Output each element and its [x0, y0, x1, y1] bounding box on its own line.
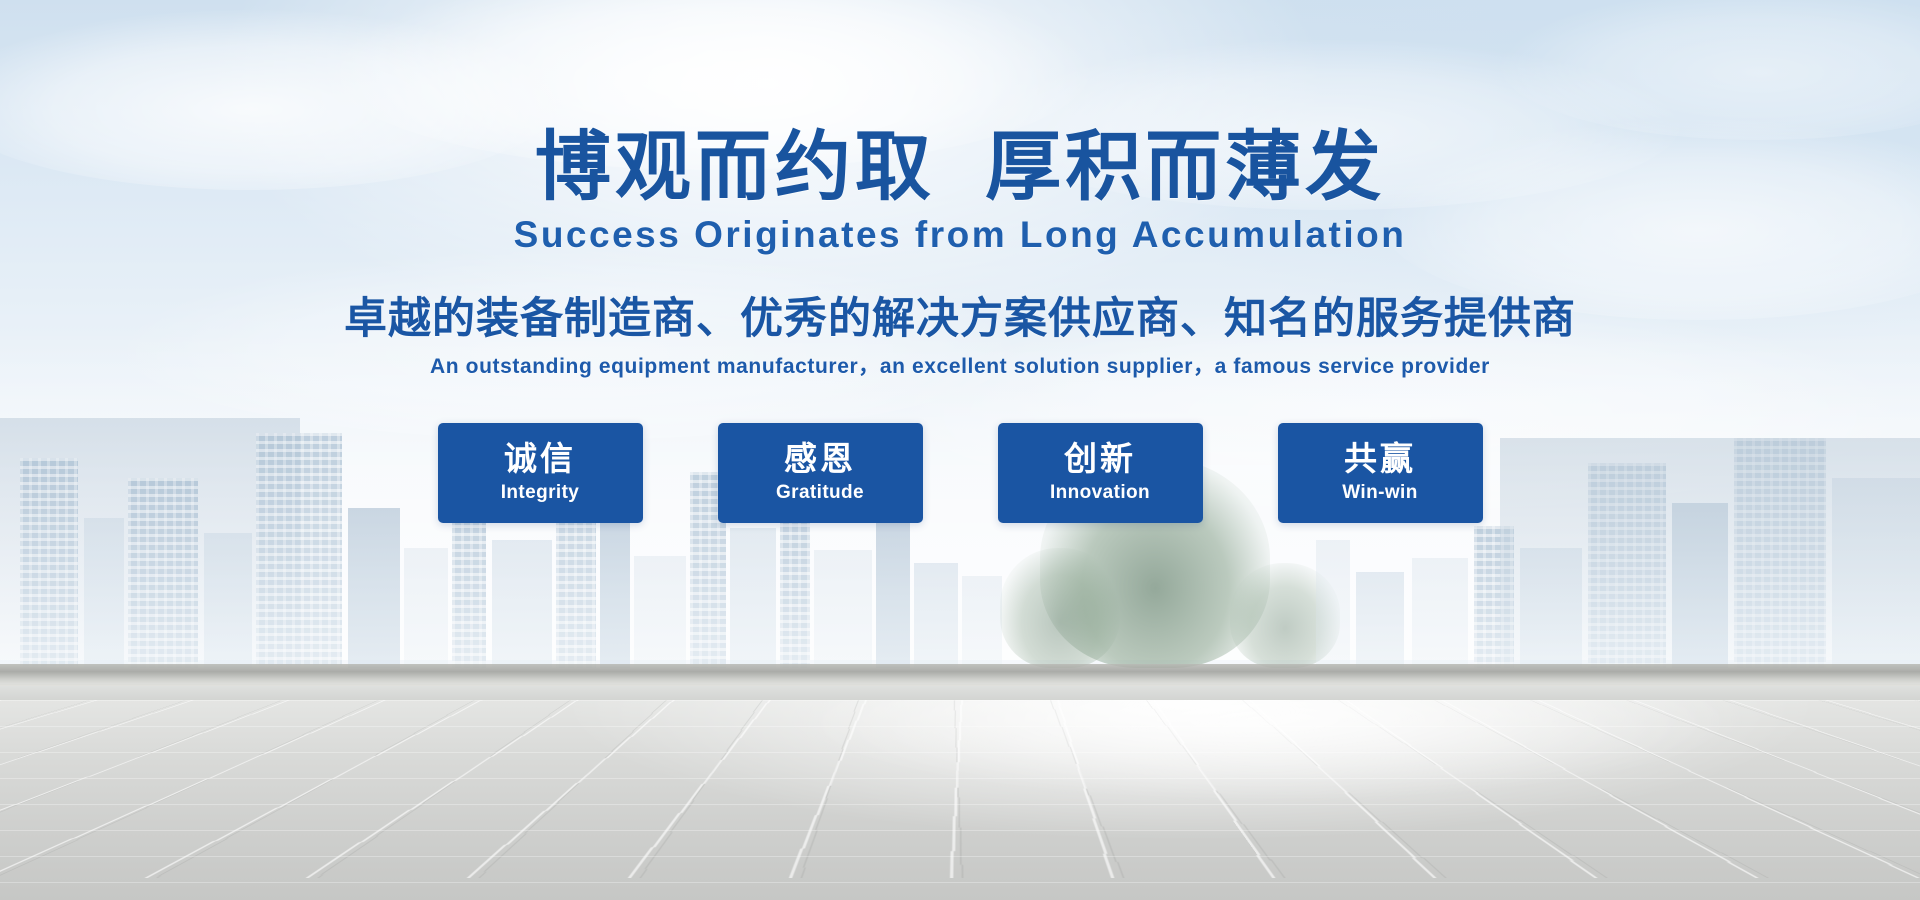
subtitle-chinese: 卓越的装备制造商、优秀的解决方案供应商、知名的服务提供商 — [344, 295, 1576, 344]
hero-banner: 博观而约取 厚积而薄发 Success Originates from Long… — [0, 0, 1920, 900]
headline-english: Success Originates from Long Accumulatio… — [514, 215, 1407, 256]
value-card-label-en: Integrity — [501, 481, 580, 505]
value-card-integrity[interactable]: 诚信 Integrity — [438, 423, 643, 523]
value-card-innovation[interactable]: 创新 Innovation — [998, 423, 1203, 523]
value-card-gratitude[interactable]: 感恩 Gratitude — [718, 423, 923, 523]
value-card-label-en: Innovation — [1050, 481, 1150, 505]
value-card-label-cn: 创新 — [1064, 441, 1136, 477]
value-card-label-en: Win-win — [1342, 481, 1417, 505]
value-card-list: 诚信 Integrity 感恩 Gratitude 创新 Innovation … — [438, 423, 1483, 523]
value-card-label-cn: 诚信 — [504, 441, 576, 477]
value-card-label-cn: 共赢 — [1344, 441, 1416, 477]
value-card-label-en: Gratitude — [776, 481, 864, 505]
value-card-winwin[interactable]: 共赢 Win-win — [1278, 423, 1483, 523]
banner-content: 博观而约取 厚积而薄发 Success Originates from Long… — [0, 0, 1920, 900]
value-card-label-cn: 感恩 — [784, 441, 856, 477]
subtitle-english: An outstanding equipment manufacturer，an… — [430, 354, 1490, 379]
headline-chinese: 博观而约取 厚积而薄发 — [535, 128, 1385, 209]
